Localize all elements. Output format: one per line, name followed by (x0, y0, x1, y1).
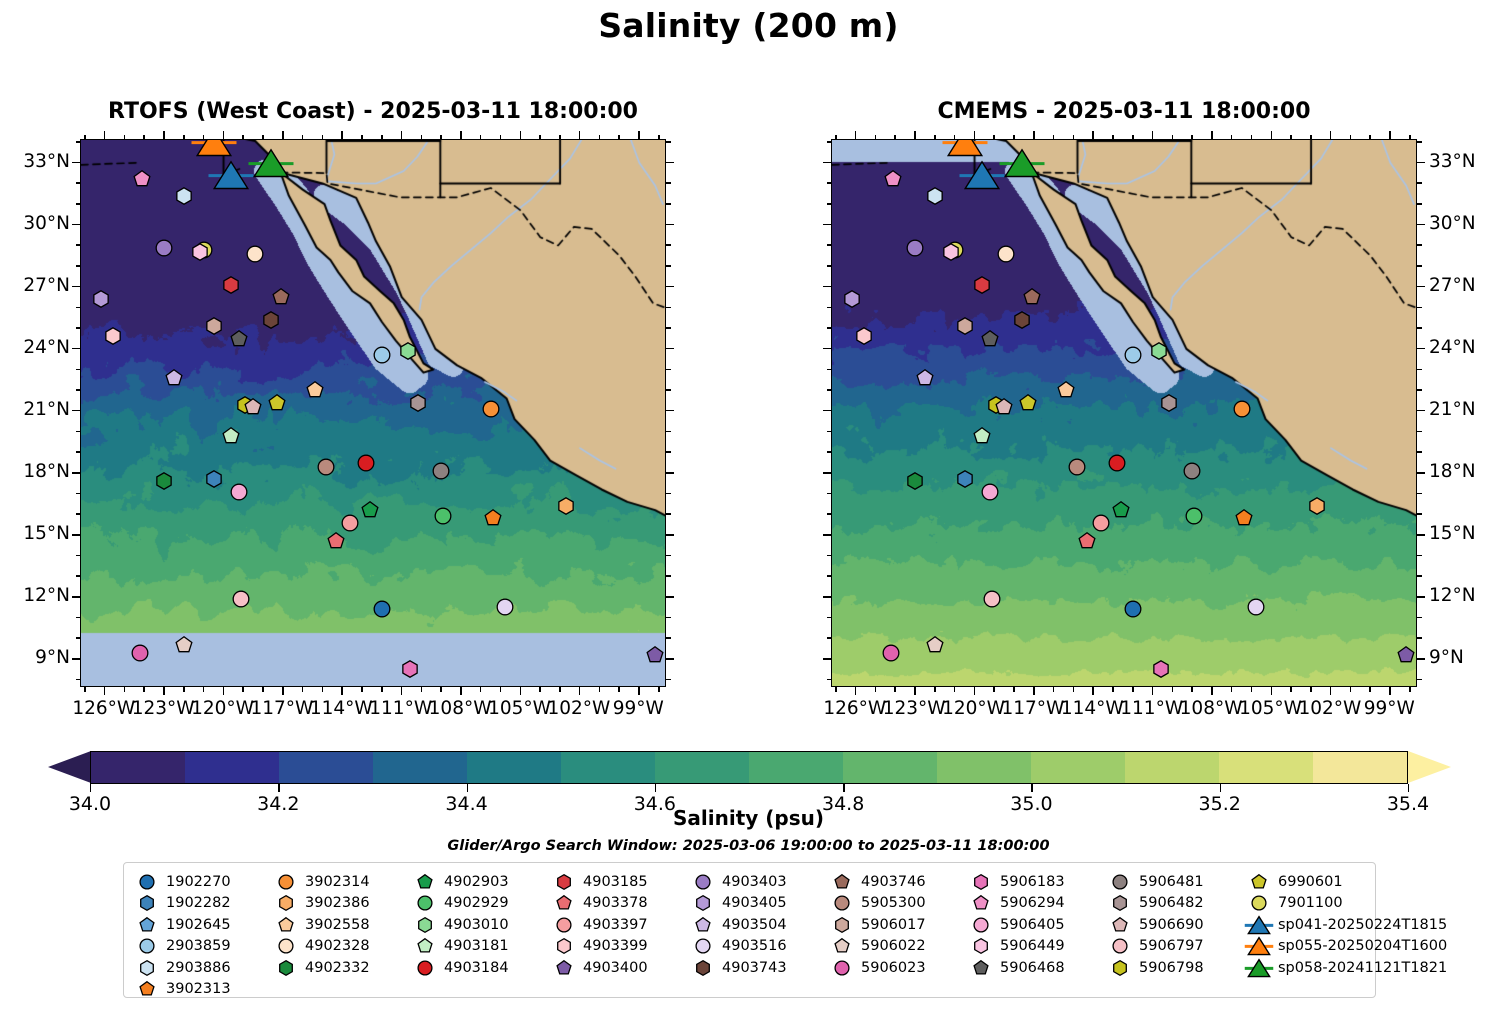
lon-tick (1033, 687, 1035, 695)
legend-item[interactable]: 4902929 (410, 893, 549, 915)
lon-tick-label: 99°W (1356, 698, 1422, 719)
map-marker-circle-icon[interactable] (247, 245, 264, 262)
colorbar-swatch (843, 752, 937, 783)
map-marker-glider-icon[interactable] (191, 139, 236, 157)
colorbar-tick (843, 784, 844, 792)
map-marker-circle-icon[interactable] (482, 400, 499, 417)
lon-tick (401, 687, 403, 695)
platform-legend[interactable]: 1902270190228219026452903859290388639023… (123, 862, 1376, 998)
colorbar[interactable]: 34.034.234.434.634.835.035.235.4 (38, 751, 1460, 784)
map-marker-pentagon-icon[interactable] (982, 330, 999, 347)
lon-tick-top (282, 131, 284, 139)
legend-marker-hexagon-icon (827, 914, 857, 935)
lon-tick-label: 126°W (71, 698, 137, 719)
map-marker-hexagon-icon[interactable] (1014, 311, 1031, 328)
map-marker-glider-icon[interactable] (249, 148, 294, 178)
colorbar-tick (1220, 784, 1221, 792)
lat-tick-right (666, 513, 671, 515)
colorbar-under-arrow (48, 751, 91, 783)
map-marker-pentagon-icon[interactable] (166, 369, 183, 386)
map-marker-pentagon-icon[interactable] (268, 394, 285, 411)
legend-item[interactable]: 7901100 (1244, 893, 1429, 915)
map-marker-glider-icon[interactable] (960, 160, 1005, 190)
lon-tick-top (223, 131, 225, 139)
lat-tick-left (76, 679, 81, 681)
legend-marker-circle-icon (827, 957, 857, 978)
lat-tick-label-right: 30°N (1429, 213, 1497, 234)
colorbar-swatch (467, 752, 561, 783)
legend-item[interactable]: sp058-20241121T1821 (1244, 957, 1429, 979)
lon-tick (1013, 687, 1015, 692)
map-marker-pentagon-icon[interactable] (885, 171, 902, 188)
map-marker-circle-icon[interactable] (1124, 601, 1141, 618)
map-marker-pentagon-icon[interactable] (647, 646, 664, 663)
legend-item[interactable]: 1902645 (132, 914, 271, 936)
lat-tick-right (1417, 493, 1422, 495)
lat-tick-right (1417, 555, 1422, 557)
legend-item[interactable]: 4903184 (410, 957, 549, 979)
lat-tick-left (72, 348, 80, 350)
lon-tick-top (1112, 135, 1114, 140)
map-marker-hexagon-icon[interactable] (92, 291, 109, 308)
lat-tick-right (666, 555, 671, 557)
map-marker-pentagon-icon[interactable] (328, 533, 345, 550)
lon-tick (1231, 687, 1233, 692)
legend-item[interactable]: 4903743 (688, 957, 827, 979)
map-marker-circle-icon[interactable] (1124, 347, 1141, 364)
lon-tick-top (1073, 135, 1075, 140)
legend-item[interactable]: 4903399 (549, 936, 688, 958)
map-marker-hexagon-icon[interactable] (956, 471, 973, 488)
lat-tick-left (823, 286, 831, 288)
lon-tick-top (143, 135, 145, 140)
legend-marker-circle-icon (688, 871, 718, 892)
legend-label: 3902313 (166, 981, 231, 997)
legend-marker-circle-icon (966, 914, 996, 935)
legend-item[interactable]: 4903400 (549, 957, 688, 979)
map-marker-pentagon-icon[interactable] (272, 289, 289, 306)
legend-item[interactable]: 5905300 (827, 893, 966, 915)
lat-tick-right (666, 534, 674, 536)
map-marker-circle-icon[interactable] (231, 483, 248, 500)
map-marker-hexagon-icon[interactable] (1150, 342, 1167, 359)
lon-tick-top (1369, 135, 1371, 140)
legend-item[interactable]: 5906022 (827, 936, 966, 958)
legend-marker-circle-icon (410, 957, 440, 978)
lat-tick-left (827, 513, 832, 515)
lon-tick-top (934, 135, 936, 140)
lon-tick-top (638, 131, 640, 139)
lon-tick (1330, 687, 1332, 695)
legend-marker-pentagon-icon (966, 957, 996, 978)
colorbar-swatch (749, 752, 843, 783)
legend-marker-circle-icon (1105, 871, 1135, 892)
map-marker-hexagon-icon[interactable] (942, 243, 959, 260)
map-marker-circle-icon[interactable] (1247, 599, 1264, 616)
legend-label: 4902929 (444, 895, 509, 911)
map-marker-pentagon-icon[interactable] (134, 171, 151, 188)
map-panel-rtofs[interactable] (80, 139, 666, 687)
map-marker-circle-icon[interactable] (1233, 400, 1250, 417)
lat-tick-left (76, 182, 81, 184)
map-marker-pentagon-icon[interactable] (175, 636, 192, 653)
lat-tick-right (1417, 431, 1422, 433)
lat-tick-right (1417, 286, 1425, 288)
map-marker-hexagon-icon[interactable] (175, 187, 192, 204)
legend-label: 4903397 (583, 917, 648, 933)
map-marker-circle-icon[interactable] (233, 591, 250, 608)
lon-tick (638, 687, 640, 695)
map-marker-circle-icon[interactable] (342, 514, 359, 531)
map-marker-hexagon-icon[interactable] (104, 328, 121, 345)
map-marker-hexagon-icon[interactable] (956, 318, 973, 335)
legend-item[interactable]: 5906449 (966, 936, 1105, 958)
lat-tick-left (72, 658, 80, 660)
map-marker-hexagon-icon[interactable] (205, 318, 222, 335)
lon-tick (1211, 687, 1213, 695)
lat-tick-right (666, 224, 674, 226)
map-marker-hexagon-icon[interactable] (974, 276, 991, 293)
lon-tick-top (1172, 135, 1174, 140)
legend-item[interactable]: 4903403 (688, 871, 827, 893)
lon-tick-top (914, 131, 916, 139)
lon-tick-top (1152, 131, 1154, 139)
lat-tick-right (666, 431, 671, 433)
legend-item[interactable]: 2903859 (132, 936, 271, 958)
lat-tick-left (76, 451, 81, 453)
legend-label: 4903185 (583, 874, 648, 890)
map-marker-pentagon-icon[interactable] (223, 427, 240, 444)
legend-item[interactable]: 3902313 (132, 979, 271, 1001)
panel-title-cmems: CMEMS - 2025-03-11 18:00:00 (831, 99, 1417, 124)
legend-item[interactable]: 4903405 (688, 893, 827, 915)
lat-tick-right (666, 451, 671, 453)
legend-label: sp055-20250204T1600 (1278, 938, 1447, 954)
map-marker-circle-icon[interactable] (1186, 508, 1203, 525)
lat-tick-left (827, 431, 832, 433)
lat-tick-left (823, 162, 831, 164)
lon-tick (835, 687, 837, 692)
map-marker-hexagon-icon[interactable] (1152, 661, 1169, 678)
lon-tick-top (1211, 131, 1213, 139)
map-marker-hexagon-icon[interactable] (907, 473, 924, 490)
figure-title: Salinity (200 m) (0, 6, 1497, 45)
legend-item[interactable]: 5906294 (966, 893, 1105, 915)
legend-marker-hexagon-icon (688, 957, 718, 978)
lon-tick (1350, 687, 1352, 692)
lat-tick-label-left: 15°N (0, 523, 70, 544)
map-marker-circle-icon[interactable] (998, 245, 1015, 262)
map-marker-hexagon-icon[interactable] (156, 473, 173, 490)
legend-item[interactable]: sp055-20250204T1600 (1244, 936, 1429, 958)
map-marker-hexagon-icon[interactable] (399, 342, 416, 359)
map-marker-glider-icon[interactable] (209, 160, 254, 190)
legend-item[interactable]: 3902558 (271, 914, 410, 936)
legend-label: 3902314 (305, 874, 370, 890)
legend-label: 5906183 (1000, 874, 1065, 890)
lat-tick-left (827, 451, 832, 453)
map-marker-pentagon-icon[interactable] (996, 398, 1013, 415)
legend-item[interactable]: 6990601 (1244, 871, 1429, 893)
map-marker-glider-icon[interactable] (942, 139, 987, 157)
legend-item[interactable]: 5906183 (966, 871, 1105, 893)
colorbar-tick (467, 784, 468, 792)
lon-tick-top (559, 135, 561, 140)
legend-label: 4903399 (583, 938, 648, 954)
legend-item[interactable]: 5906481 (1105, 871, 1244, 893)
lat-tick-label-left: 24°N (0, 337, 70, 358)
lon-tick-top (262, 135, 264, 140)
map-marker-hexagon-icon[interactable] (263, 311, 280, 328)
lon-tick-top (1231, 135, 1233, 140)
lat-tick-right (1417, 534, 1425, 536)
legend-column: 69906017901100sp041-20250224T1815sp055-2… (1244, 871, 1429, 979)
map-marker-pentagon-icon[interactable] (974, 427, 991, 444)
legend-label: 2903886 (166, 960, 231, 976)
map-marker-pentagon-icon[interactable] (1023, 289, 1040, 306)
map-marker-circle-icon[interactable] (433, 462, 450, 479)
lat-tick-right (1417, 265, 1422, 267)
legend-marker-hexagon-icon (271, 957, 301, 978)
lat-tick-left (72, 162, 80, 164)
lon-tick-top (1191, 135, 1193, 140)
legend-item[interactable]: 4903185 (549, 871, 688, 893)
legend-marker-pentagon-icon (410, 936, 440, 957)
lon-tick-label: 111°W (368, 698, 434, 719)
lat-tick-left (827, 307, 832, 309)
legend-marker-pentagon-icon (688, 914, 718, 935)
lon-tick-top (954, 135, 956, 140)
legend-item[interactable]: 1902282 (132, 893, 271, 915)
lat-tick-right (666, 265, 671, 267)
map-marker-circle-icon[interactable] (1184, 462, 1201, 479)
legend-item[interactable]: 4903181 (410, 936, 549, 958)
legend-item[interactable]: 4903010 (410, 914, 549, 936)
lat-tick-left (72, 596, 80, 598)
lat-tick-left (827, 244, 832, 246)
lat-tick-label-right: 21°N (1429, 399, 1497, 420)
lon-tick (894, 687, 896, 692)
lon-tick-label: 102°W (546, 698, 612, 719)
legend-item[interactable]: 5906468 (966, 957, 1105, 979)
map-marker-hexagon-icon[interactable] (843, 291, 860, 308)
map-marker-pentagon-icon[interactable] (1057, 382, 1074, 399)
map-marker-circle-icon[interactable] (318, 458, 335, 475)
map-marker-hexagon-icon[interactable] (409, 394, 426, 411)
lon-tick-top (322, 135, 324, 140)
lat-tick-left (76, 389, 81, 391)
map-marker-circle-icon[interactable] (435, 508, 452, 525)
map-marker-hexagon-icon[interactable] (223, 276, 240, 293)
map-marker-circle-icon[interactable] (1093, 514, 1110, 531)
map-marker-hexagon-icon[interactable] (1309, 498, 1326, 515)
lon-tick-label: 111°W (1119, 698, 1185, 719)
lat-tick-label-left: 21°N (0, 399, 70, 420)
lon-tick-top (835, 135, 837, 140)
legend-marker-hexagon-icon (549, 936, 579, 957)
map-marker-circle-icon[interactable] (156, 239, 173, 256)
lat-tick-left (76, 513, 81, 515)
lat-tick-left (76, 327, 81, 329)
colorbar-swatch (1031, 752, 1125, 783)
lat-tick-label-right: 15°N (1429, 523, 1497, 544)
legend-marker-pentagon-icon (1105, 914, 1135, 935)
legend-label: 5905300 (861, 895, 926, 911)
legend-label: 5906449 (1000, 938, 1065, 954)
lon-tick (421, 687, 423, 692)
lon-tick-label: 123°W (881, 698, 947, 719)
legend-label: sp058-20241121T1821 (1278, 960, 1447, 976)
lon-tick (480, 687, 482, 692)
legend-item[interactable]: sp041-20250224T1815 (1244, 914, 1429, 936)
map-marker-circle-icon[interactable] (883, 644, 900, 661)
legend-label: 1902282 (166, 895, 231, 911)
legend-item[interactable]: 2903886 (132, 957, 271, 979)
map-marker-circle-icon[interactable] (132, 644, 149, 661)
lon-tick (1409, 687, 1411, 692)
lon-tick-top (1271, 131, 1273, 139)
colorbar-gradient (90, 751, 1408, 784)
map-marker-circle-icon[interactable] (982, 483, 999, 500)
legend-label: 5906023 (861, 960, 926, 976)
lon-tick (500, 687, 502, 692)
map-marker-pentagon-icon[interactable] (1235, 510, 1252, 527)
legend-item[interactable]: 5906797 (1105, 936, 1244, 958)
lon-tick-top (1310, 135, 1312, 140)
legend-item[interactable]: 5906023 (827, 957, 966, 979)
lon-tick (1092, 687, 1094, 695)
map-marker-circle-icon[interactable] (496, 599, 513, 616)
map-marker-pentagon-icon[interactable] (917, 369, 934, 386)
legend-item[interactable]: 4903516 (688, 936, 827, 958)
lat-tick-left (823, 472, 831, 474)
map-marker-hexagon-icon[interactable] (191, 243, 208, 260)
map-marker-pentagon-icon[interactable] (306, 382, 323, 399)
lon-tick-top (500, 135, 502, 140)
legend-item[interactable]: 4902903 (410, 871, 549, 893)
map-marker-circle-icon[interactable] (1069, 458, 1086, 475)
legend-marker-hexagon-icon (688, 893, 718, 914)
map-marker-hexagon-icon[interactable] (926, 187, 943, 204)
lon-tick (341, 687, 343, 695)
map-marker-glider-icon[interactable] (1000, 148, 1045, 178)
colorbar-swatch (279, 752, 373, 783)
map-marker-circle-icon[interactable] (907, 239, 924, 256)
lat-tick-left (72, 286, 80, 288)
lon-tick (559, 687, 561, 692)
legend-marker-circle-icon (549, 914, 579, 935)
lat-tick-left (827, 493, 832, 495)
legend-item[interactable]: 4902332 (271, 957, 410, 979)
lat-tick-left (76, 555, 81, 557)
legend-marker-circle-icon (132, 936, 162, 957)
lon-tick-top (1092, 131, 1094, 139)
legend-label: sp041-20250224T1815 (1278, 917, 1447, 933)
map-marker-circle-icon[interactable] (358, 454, 375, 471)
legend-column: 49029034902929490301049031814903184 (410, 871, 549, 979)
lat-tick-label-right: 12°N (1429, 585, 1497, 606)
lat-tick-left (823, 348, 831, 350)
lat-tick-left (827, 327, 832, 329)
legend-item[interactable]: 1902270 (132, 871, 271, 893)
lat-tick-right (666, 472, 674, 474)
legend-item[interactable]: 3902386 (271, 893, 410, 915)
map-marker-pentagon-icon[interactable] (1019, 394, 1036, 411)
legend-column: 1902270190228219026452903859290388639023… (132, 871, 271, 1000)
lon-tick (658, 687, 660, 692)
lon-tick (520, 687, 522, 695)
map-marker-circle-icon[interactable] (373, 347, 390, 364)
legend-label: 4903181 (444, 938, 509, 954)
map-marker-pentagon-icon[interactable] (484, 510, 501, 527)
lon-tick (1271, 687, 1273, 695)
map-marker-pentagon-icon[interactable] (362, 502, 379, 519)
map-marker-pentagon-icon[interactable] (1113, 502, 1130, 519)
lon-tick-top (1033, 131, 1035, 139)
map-marker-pentagon-icon[interactable] (1079, 533, 1096, 550)
lon-tick-top (1409, 135, 1411, 140)
map-marker-circle-icon[interactable] (373, 601, 390, 618)
map-marker-circle-icon[interactable] (1109, 454, 1126, 471)
legend-item[interactable]: 4903746 (827, 871, 966, 893)
lon-tick (579, 687, 581, 695)
lon-tick (262, 687, 264, 692)
map-marker-pentagon-icon[interactable] (1398, 646, 1415, 663)
legend-item[interactable]: 4903378 (549, 893, 688, 915)
lat-tick-left (76, 431, 81, 433)
lon-tick-label: 123°W (130, 698, 196, 719)
legend-item[interactable]: 5906482 (1105, 893, 1244, 915)
map-marker-circle-icon[interactable] (984, 591, 1001, 608)
map-marker-pentagon-icon[interactable] (926, 636, 943, 653)
legend-item[interactable]: 4902328 (271, 936, 410, 958)
colorbar-over-arrow (1408, 751, 1451, 783)
map-marker-hexagon-icon[interactable] (855, 328, 872, 345)
lat-tick-left (827, 369, 832, 371)
map-panel-cmems[interactable] (831, 139, 1417, 687)
legend-item[interactable]: 3902314 (271, 871, 410, 893)
legend-item[interactable]: 5906798 (1105, 957, 1244, 979)
lat-tick-right (1417, 451, 1422, 453)
lat-tick-left (827, 182, 832, 184)
legend-item[interactable]: 4903504 (688, 914, 827, 936)
map-marker-pentagon-icon[interactable] (231, 330, 248, 347)
legend-item[interactable]: 5906017 (827, 914, 966, 936)
map-marker-hexagon-icon[interactable] (1160, 394, 1177, 411)
legend-item[interactable]: 5906690 (1105, 914, 1244, 936)
lat-tick-label-left: 12°N (0, 585, 70, 606)
map-marker-hexagon-icon[interactable] (401, 661, 418, 678)
lat-tick-label-left: 33°N (0, 151, 70, 172)
legend-marker-circle-icon (827, 893, 857, 914)
lon-tick-top (1290, 135, 1292, 140)
lat-tick-left (827, 555, 832, 557)
lat-tick-right (1417, 513, 1422, 515)
lat-tick-right (666, 389, 671, 391)
legend-label: 2903859 (166, 938, 231, 954)
map-marker-pentagon-icon[interactable] (245, 398, 262, 415)
legend-label: 5906022 (861, 938, 926, 954)
legend-item[interactable]: 5906405 (966, 914, 1105, 936)
lat-tick-right (1417, 203, 1422, 205)
lon-tick (875, 687, 877, 692)
lon-tick (1112, 687, 1114, 692)
lat-tick-label-left: 18°N (0, 461, 70, 482)
legend-item[interactable]: 4903397 (549, 914, 688, 936)
lon-tick (302, 687, 304, 692)
map-marker-hexagon-icon[interactable] (205, 471, 222, 488)
map-marker-hexagon-icon[interactable] (558, 498, 575, 515)
